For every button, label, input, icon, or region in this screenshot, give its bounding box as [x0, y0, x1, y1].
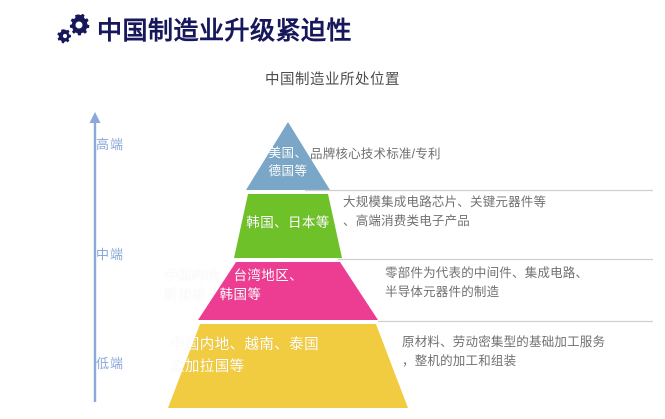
pyramid-tier-1-annotation: 大规模集成电路芯片、关键元器件等 、高端消费类电子产品 — [343, 193, 653, 230]
axis-label-high-end: 高端 — [96, 134, 124, 153]
pyramid-tier-2-annotation: 零部件为代表的中间件、集成电路、 半导体元器件的制造 — [385, 264, 655, 301]
chart-subtitle: 中国制造业所处位置 — [0, 68, 665, 89]
gears-icon — [57, 14, 93, 46]
page-title: 中国制造业升级紧迫性 — [97, 11, 352, 47]
pyramid-tier-0-annotation: 品牌核心技术标准/专利 — [310, 145, 640, 164]
pyramid-tier-3-annotation: 原材料、劳动密集型的基础加工服务 ，整机的加工和组装 — [402, 333, 657, 370]
page-header: 中国制造业升级紧迫性 — [0, 0, 665, 56]
axis-label-mid-end: 中端 — [96, 244, 124, 263]
axis-label-low-end: 低端 — [96, 353, 124, 372]
